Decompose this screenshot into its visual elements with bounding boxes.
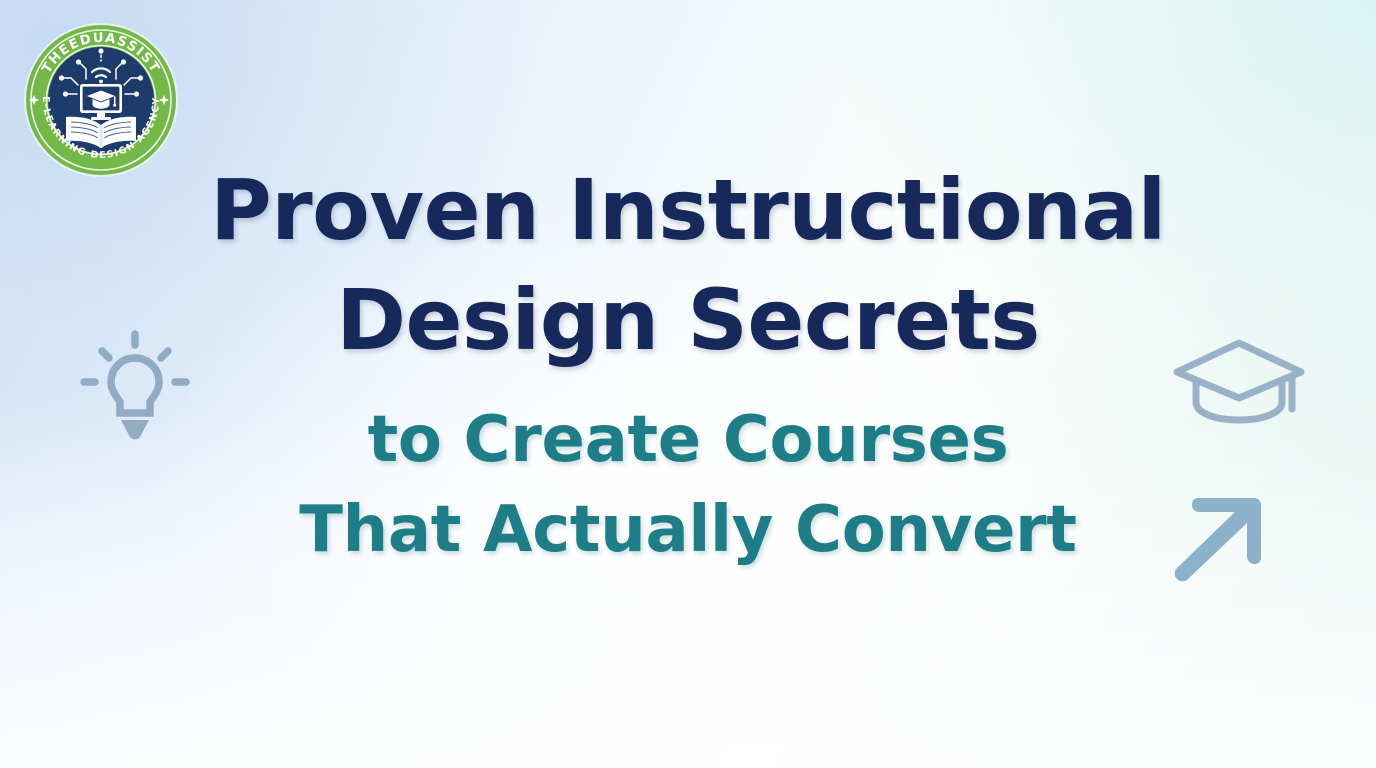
- growth-arrow-icon: [1168, 486, 1270, 586]
- brand-logo[interactable]: THEEDUASSIST E-LEARNING DESIGN AGENCY: [22, 21, 180, 179]
- graduation-cap-icon: [1168, 334, 1310, 426]
- slide-canvas: THEEDUASSIST E-LEARNING DESIGN AGENCY: [0, 0, 1376, 768]
- title-line-1: Proven Instructional: [0, 168, 1376, 252]
- lightbulb-icon: [72, 320, 198, 450]
